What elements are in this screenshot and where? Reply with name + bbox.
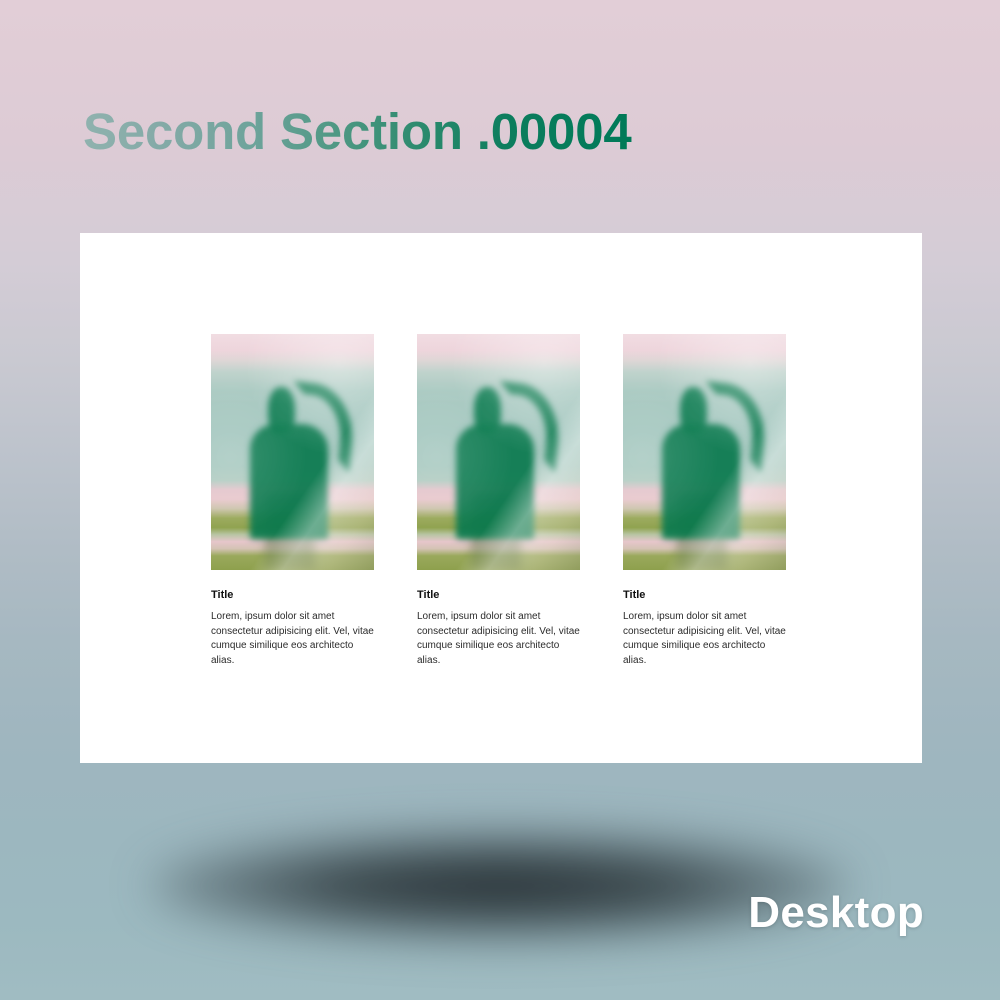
- card-image: [211, 334, 374, 570]
- card-title: Title: [417, 589, 580, 602]
- device-label: Desktop: [748, 888, 924, 938]
- photo-grain-overlay: [211, 334, 374, 570]
- card-body-text: Lorem, ipsum dolor sit amet consectetur …: [211, 610, 374, 668]
- card-item[interactable]: Title Lorem, ipsum dolor sit amet consec…: [211, 334, 374, 668]
- content-panel: Title Lorem, ipsum dolor sit amet consec…: [80, 233, 922, 763]
- card-body-text: Lorem, ipsum dolor sit amet consectetur …: [623, 610, 786, 668]
- card-grid: Title Lorem, ipsum dolor sit amet consec…: [211, 334, 787, 668]
- screenshot-stage: Second Section .00004 Title Lorem, ipsum…: [0, 0, 1000, 1000]
- floor-shadow-ellipse: [150, 832, 850, 940]
- card-body-text: Lorem, ipsum dolor sit amet consectetur …: [417, 610, 580, 668]
- card-title: Title: [211, 589, 374, 602]
- card-item[interactable]: Title Lorem, ipsum dolor sit amet consec…: [417, 334, 580, 668]
- card-image: [417, 334, 580, 570]
- photo-grain-overlay: [417, 334, 580, 570]
- card-item[interactable]: Title Lorem, ipsum dolor sit amet consec…: [623, 334, 786, 668]
- card-title: Title: [623, 589, 786, 602]
- page-title: Second Section .00004: [83, 102, 632, 161]
- photo-grain-overlay: [623, 334, 786, 570]
- card-image: [623, 334, 786, 570]
